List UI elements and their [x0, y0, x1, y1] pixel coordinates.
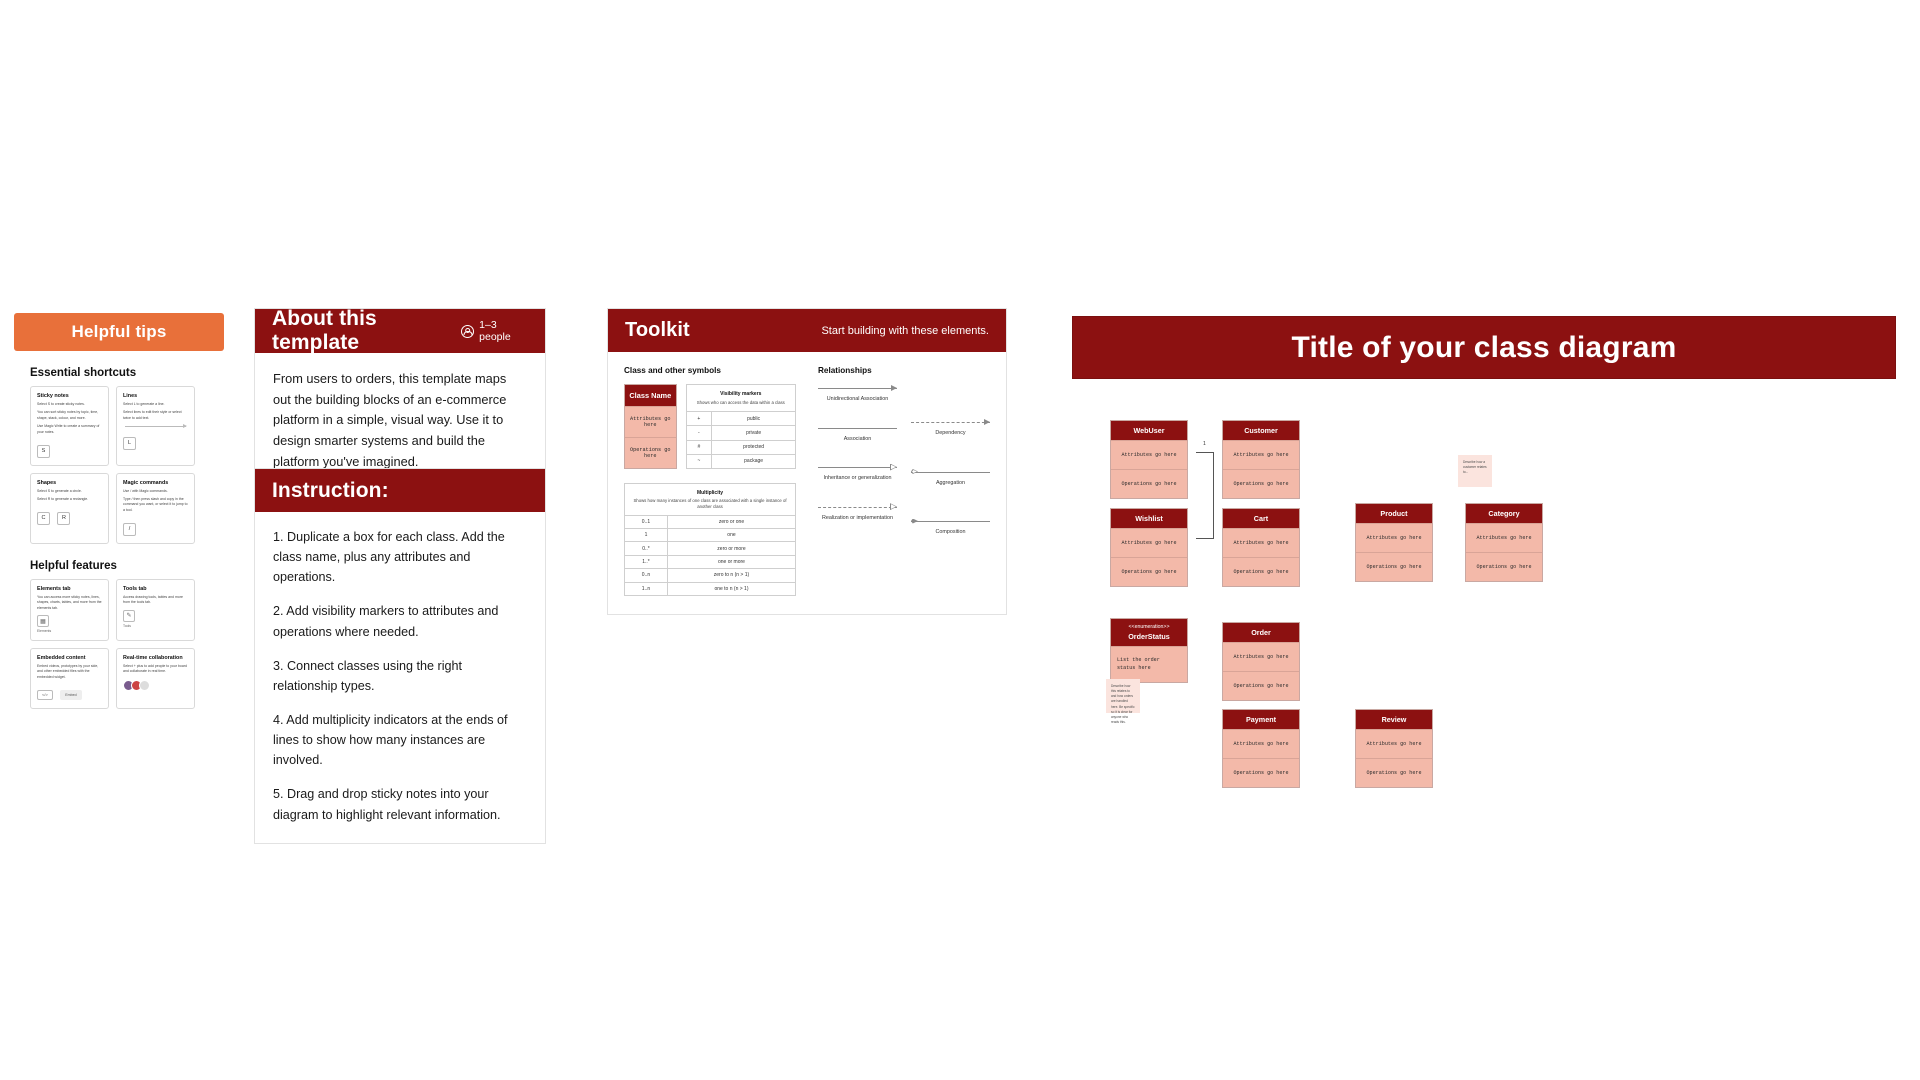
- relationship-label: Association: [818, 436, 897, 444]
- stereotype-label: <<enumeration>>: [1113, 624, 1185, 631]
- tip-card-tools-tab[interactable]: Tools tab Access drawing tools, tables a…: [116, 579, 195, 641]
- class-name: Product: [1356, 504, 1432, 523]
- tip-title: Shapes: [37, 480, 102, 486]
- class-box-webuser[interactable]: WebUser Attributes go here Operations go…: [1110, 420, 1188, 499]
- class-operations: Operations go here: [1356, 552, 1432, 581]
- tip-keys: L: [123, 431, 188, 450]
- tip-body: Use / with Magic commands.: [123, 489, 188, 494]
- class-box-cart[interactable]: Cart Attributes go here Operations go he…: [1222, 508, 1300, 587]
- enumeration-title: OrderStatus: [1128, 632, 1170, 641]
- aggregation-icon: [911, 468, 990, 476]
- relationship-label: Aggregation: [911, 480, 990, 488]
- table-row: #protected: [686, 440, 795, 454]
- tip-body: Embed videos, prototypes by your side, a…: [37, 664, 102, 680]
- sticky-note-text: Describe how a customer relates to...: [1463, 460, 1487, 474]
- pen-tool-icon: ✎: [123, 610, 135, 622]
- relationship-column-2: Dependency Aggregation Composition: [911, 384, 990, 557]
- relationship-columns: Unidirectional Association Association I…: [818, 384, 990, 557]
- table-row: 1..none to n (n > 1): [625, 582, 796, 595]
- tip-card-shapes[interactable]: Shapes Select S to generate a circle. Se…: [30, 473, 109, 544]
- multiplicity-meaning: one: [667, 529, 795, 542]
- relationship-label: Composition: [911, 529, 990, 537]
- class-attributes: Attributes go here: [1466, 523, 1542, 552]
- tip-title: Magic commands: [123, 480, 188, 486]
- table-row: -private: [686, 426, 795, 440]
- connector-customer-cart[interactable]: [1196, 452, 1222, 540]
- class-operations: Operations go here: [1223, 758, 1299, 787]
- enumeration-name: <<enumeration>> OrderStatus: [1111, 619, 1187, 646]
- diagram-title: Title of your class diagram: [1292, 331, 1677, 365]
- class-box-payment[interactable]: Payment Attributes go here Operations go…: [1222, 709, 1300, 788]
- visibility-meaning: protected: [712, 440, 796, 454]
- tip-body: You can access more sticky notes, lines,…: [37, 595, 102, 611]
- tip-title: Elements tab: [37, 586, 102, 592]
- class-attributes: Attributes go here: [1111, 440, 1187, 469]
- avatar: [139, 680, 150, 691]
- multiplicity-wrap: Multiplicity Shows how many instances of…: [624, 483, 796, 596]
- class-attributes: Attributes go here: [1356, 523, 1432, 552]
- multiplicity-title: Multiplicity Shows how many instances of…: [625, 484, 796, 516]
- instruction-step: 5. Drag and drop sticky notes into your …: [273, 784, 527, 824]
- multiplicity-meaning: zero or one: [667, 515, 795, 528]
- tip-body: Select S to create sticky notes.: [37, 402, 102, 407]
- relationship-label: Inheritance or generalization: [818, 475, 897, 483]
- section-title-helpful-features: Helpful features: [30, 560, 224, 572]
- tip-card-magic-commands[interactable]: Magic commands Use / with Magic commands…: [116, 473, 195, 544]
- class-box-product[interactable]: Product Attributes go here Operations go…: [1355, 503, 1433, 582]
- multiplicity-meaning: one to n (n > 1): [667, 582, 795, 595]
- class-name: Review: [1356, 710, 1432, 729]
- toolkit-relationships-column: Relationships Unidirectional Association…: [818, 366, 990, 596]
- tip-caption: Tools: [123, 624, 188, 628]
- class-name: Wishlist: [1111, 509, 1187, 528]
- table-row: 0..nzero to n (n > 1): [625, 569, 796, 582]
- tip-caption: Elements: [37, 629, 102, 633]
- visibility-marker: ~: [686, 454, 712, 468]
- relationship-inheritance[interactable]: Inheritance or generalization: [818, 463, 897, 483]
- multiplicity-marker: 1..n: [625, 582, 668, 595]
- visibility-meaning: public: [712, 412, 796, 426]
- helpful-tips-header: Helpful tips: [14, 313, 224, 351]
- class-name: Cart: [1223, 509, 1299, 528]
- multiplicity-marker: 1..*: [625, 555, 668, 568]
- realization-icon: [818, 503, 897, 511]
- tip-title: Real-time collaboration: [123, 655, 188, 661]
- class-attributes: Attributes go here: [1223, 528, 1299, 557]
- toolkit-symbols-column: Class and other symbols Class Name Attri…: [624, 366, 796, 596]
- relationship-label: Unidirectional Association: [818, 396, 897, 404]
- multiplicity-table: Multiplicity Shows how many instances of…: [624, 483, 796, 596]
- keycap-slash[interactable]: /: [123, 523, 136, 536]
- sample-class-attributes: Attributes go here: [625, 406, 676, 437]
- whiteboard-canvas: Helpful tips Essential shortcuts Sticky …: [0, 0, 1920, 1080]
- class-operations: Operations go here: [1356, 758, 1432, 787]
- tip-body: Select L to generate a line.: [123, 402, 188, 407]
- section-title-essential-shortcuts: Essential shortcuts: [30, 367, 224, 379]
- about-title: About this template: [272, 307, 461, 355]
- relationship-dependency[interactable]: Dependency: [911, 418, 990, 438]
- multiplicity-label-one: 1: [1203, 441, 1206, 447]
- relationship-aggregation[interactable]: Aggregation: [911, 468, 990, 488]
- visibility-markers-table: Visibility markers Shows who can access …: [686, 384, 796, 469]
- relationship-label: Dependency: [911, 430, 990, 438]
- tip-card-lines[interactable]: Lines Select L to generate a line. Selec…: [116, 386, 195, 466]
- tip-card-sticky-notes[interactable]: Sticky notes Select S to create sticky n…: [30, 386, 109, 466]
- sticky-note-orderstatus[interactable]: Describe how this relates to and how ord…: [1106, 679, 1140, 713]
- class-name: Payment: [1223, 710, 1299, 729]
- instruction-title: Instruction:: [272, 479, 389, 503]
- helpful-tips-panel: Helpful tips Essential shortcuts Sticky …: [14, 313, 224, 709]
- tip-card-elements-tab[interactable]: Elements tab You can access more sticky …: [30, 579, 109, 641]
- class-operations: Operations go here: [1466, 552, 1542, 581]
- people-count-label: 1–3 people: [479, 319, 528, 343]
- class-box-category[interactable]: Category Attributes go here Operations g…: [1465, 503, 1543, 582]
- visibility-title: Visibility markers Shows who can access …: [686, 385, 795, 412]
- tip-title: Embedded content: [37, 655, 102, 661]
- class-box-order[interactable]: Order Attributes go here Operations go h…: [1222, 622, 1300, 701]
- visibility-marker: -: [686, 426, 712, 440]
- relationship-unidirectional-association[interactable]: Unidirectional Association: [818, 384, 897, 404]
- embed-code-icon: </>: [37, 690, 53, 700]
- composition-icon: [911, 517, 990, 525]
- class-operations: Operations go here: [1223, 671, 1299, 700]
- toolkit-card: Toolkit Start building with these elemen…: [607, 308, 1007, 615]
- class-name: Customer: [1223, 421, 1299, 440]
- visibility-marker: +: [686, 412, 712, 426]
- about-template-card: About this template 1–3 people From user…: [254, 308, 546, 494]
- essential-shortcuts-row-2: Shapes Select S to generate a circle. Se…: [30, 473, 224, 544]
- tip-body: Select S to generate a circle.: [37, 489, 102, 494]
- multiplicity-meaning: zero or more: [667, 542, 795, 555]
- class-box-customer[interactable]: Customer Attributes go here Operations g…: [1222, 420, 1300, 499]
- class-operations: Operations go here: [1111, 557, 1187, 586]
- tip-title: Sticky notes: [37, 393, 102, 399]
- relationship-realization[interactable]: Realization or implementation: [818, 503, 897, 523]
- visibility-meaning: private: [712, 426, 796, 440]
- class-attributes: Attributes go here: [1356, 729, 1432, 758]
- visibility-meaning: package: [712, 454, 796, 468]
- multiplicity-marker: 0..1: [625, 515, 668, 528]
- helpful-features-row-1: Elements tab You can access more sticky …: [30, 579, 224, 641]
- class-attributes: Attributes go here: [1223, 642, 1299, 671]
- instruction-card: Instruction: 1. Duplicate a box for each…: [254, 468, 546, 844]
- relationship-association[interactable]: Association: [818, 424, 897, 444]
- tip-body: Access drawing tools, tables and more fr…: [123, 595, 188, 606]
- class-name: Order: [1223, 623, 1299, 642]
- sample-class-box[interactable]: Class Name Attributes go here Operations…: [624, 384, 677, 469]
- about-header: About this template 1–3 people: [255, 309, 545, 353]
- tip-body: Select + plus to add people to your boar…: [123, 664, 188, 675]
- instruction-step: 4. Add multiplicity indicators at the en…: [273, 710, 527, 770]
- enumeration-body: List the order status here: [1111, 646, 1187, 682]
- sample-class-name: Class Name: [625, 385, 676, 406]
- relationship-column-1: Unidirectional Association Association I…: [818, 384, 897, 557]
- table-row: 1one: [625, 529, 796, 542]
- instruction-step: 2. Add visibility markers to attributes …: [273, 601, 527, 641]
- class-name: Category: [1466, 504, 1542, 523]
- table-row: ~package: [686, 454, 795, 468]
- table-row: +public: [686, 412, 795, 426]
- tip-title: Lines: [123, 393, 188, 399]
- dependency-icon: [911, 418, 990, 426]
- line-preview-icon: [125, 426, 186, 427]
- diagram-title-banner[interactable]: Title of your class diagram: [1072, 316, 1896, 379]
- multiplicity-marker: 1: [625, 529, 668, 542]
- about-description: From users to orders, this template maps…: [273, 369, 527, 473]
- relationship-composition[interactable]: Composition: [911, 517, 990, 537]
- toolkit-right-heading: Relationships: [818, 366, 990, 375]
- people-badge: 1–3 people: [461, 319, 528, 343]
- multiplicity-meaning: one or more: [667, 555, 795, 568]
- table-row: 0..1zero or one: [625, 515, 796, 528]
- unidirectional-association-icon: [818, 384, 897, 392]
- essential-shortcuts-row-1: Sticky notes Select S to create sticky n…: [30, 386, 224, 466]
- sample-class-operations: Operations go here: [625, 437, 676, 468]
- tip-card-realtime-collaboration[interactable]: Real-time collaboration Select + plus to…: [116, 648, 195, 709]
- tip-title: Tools tab: [123, 586, 188, 592]
- tip-body: Select R to generate a rectangle.: [37, 497, 102, 502]
- elements-grid-icon: ▦: [37, 615, 49, 627]
- sticky-note-category[interactable]: Describe how a customer relates to...: [1458, 455, 1492, 487]
- keycap-s[interactable]: S: [37, 445, 50, 458]
- toolkit-body: Class and other symbols Class Name Attri…: [608, 352, 1006, 614]
- instruction-header: Instruction:: [255, 469, 545, 512]
- class-attributes: Attributes go here: [1111, 528, 1187, 557]
- toolkit-title: Toolkit: [625, 319, 690, 342]
- person-icon: [461, 325, 474, 338]
- class-operations: Operations go here: [1111, 469, 1187, 498]
- visibility-marker: #: [686, 440, 712, 454]
- symbols-row: Class Name Attributes go here Operations…: [624, 384, 796, 469]
- class-box-review[interactable]: Review Attributes go here Operations go …: [1355, 709, 1433, 788]
- keycap-c[interactable]: C: [37, 512, 50, 525]
- table-row: 1..*one or more: [625, 555, 796, 568]
- association-icon: [818, 424, 897, 432]
- relationship-label: Realization or implementation: [818, 515, 897, 523]
- toolkit-subtitle: Start building with these elements.: [821, 325, 989, 337]
- keycap-l[interactable]: L: [123, 437, 136, 450]
- tip-body: Type / then press slash and copy in the …: [123, 497, 188, 513]
- tip-body: Select lines to edit their style or sele…: [123, 410, 188, 421]
- helpful-features-row-2: Embedded content Embed videos, prototype…: [30, 648, 224, 709]
- tip-card-embedded-content[interactable]: Embedded content Embed videos, prototype…: [30, 648, 109, 709]
- class-operations: Operations go here: [1223, 557, 1299, 586]
- enumeration-box-orderstatus[interactable]: <<enumeration>> OrderStatus List the ord…: [1110, 618, 1188, 683]
- tip-caption[interactable]: Embed: [60, 690, 81, 700]
- multiplicity-meaning: zero to n (n > 1): [667, 569, 795, 582]
- tip-keys: S: [37, 439, 102, 458]
- instruction-body: 1. Duplicate a box for each class. Add t…: [255, 512, 545, 843]
- keycap-r[interactable]: R: [57, 512, 70, 525]
- toolkit-header: Toolkit Start building with these elemen…: [608, 309, 1006, 352]
- tip-body: Use Magic Write to create a summary of y…: [37, 424, 102, 435]
- class-name: WebUser: [1111, 421, 1187, 440]
- toolkit-left-heading: Class and other symbols: [624, 366, 796, 375]
- class-operations: Operations go here: [1223, 469, 1299, 498]
- inheritance-icon: [818, 463, 897, 471]
- multiplicity-marker: 0..*: [625, 542, 668, 555]
- instruction-step: 1. Duplicate a box for each class. Add t…: [273, 527, 527, 587]
- class-box-wishlist[interactable]: Wishlist Attributes go here Operations g…: [1110, 508, 1188, 587]
- class-attributes: Attributes go here: [1223, 440, 1299, 469]
- sticky-note-text: Describe how this relates to and how ord…: [1111, 684, 1135, 724]
- multiplicity-marker: 0..n: [625, 569, 668, 582]
- tip-body: You can sort sticky notes by topic, time…: [37, 410, 102, 421]
- table-row: 0..*zero or more: [625, 542, 796, 555]
- class-attributes: Attributes go here: [1223, 729, 1299, 758]
- instruction-step: 3. Connect classes using the right relat…: [273, 656, 527, 696]
- tip-keys: C R: [37, 506, 102, 525]
- collaborator-avatars: [123, 680, 188, 691]
- tip-keys: /: [123, 517, 188, 536]
